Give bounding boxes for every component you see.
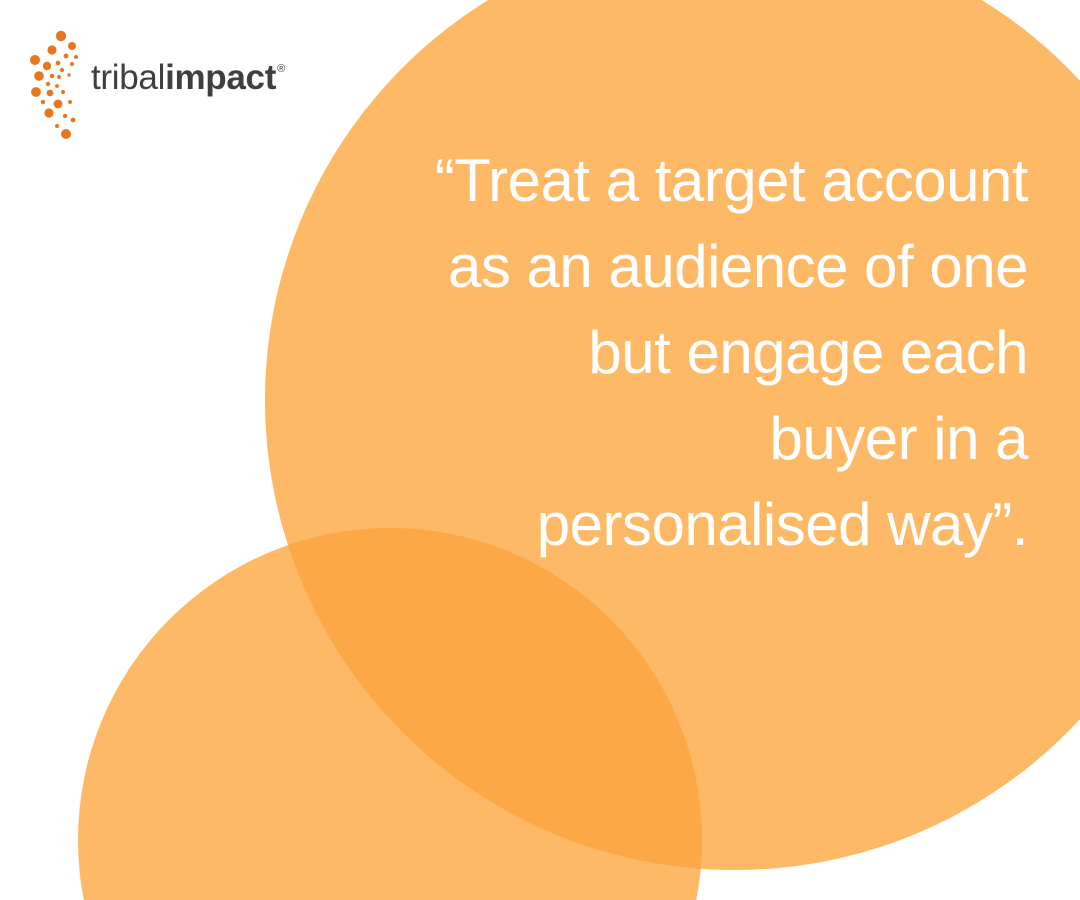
quote-line: “Treat a target account (300, 138, 1028, 224)
quote-line: buyer in a (300, 396, 1028, 482)
quote-text: “Treat a target account as an audience o… (300, 138, 1028, 568)
logo-wordmark-light: tribal (91, 58, 165, 97)
quote-card: tribalimpact® “Treat a target account as… (0, 0, 1080, 900)
logo-wordmark: tribalimpact® (91, 60, 284, 95)
quote-line: as an audience of one (300, 224, 1028, 310)
quote-line: personalised way”. (300, 482, 1028, 568)
quote-line: but engage each (300, 310, 1028, 396)
tribal-impact-logo[interactable]: tribalimpact® (28, 30, 288, 142)
registered-trademark-icon: ® (277, 63, 285, 75)
logo-wordmark-bold: impact (165, 58, 276, 97)
logo-dots-icon (28, 30, 80, 142)
